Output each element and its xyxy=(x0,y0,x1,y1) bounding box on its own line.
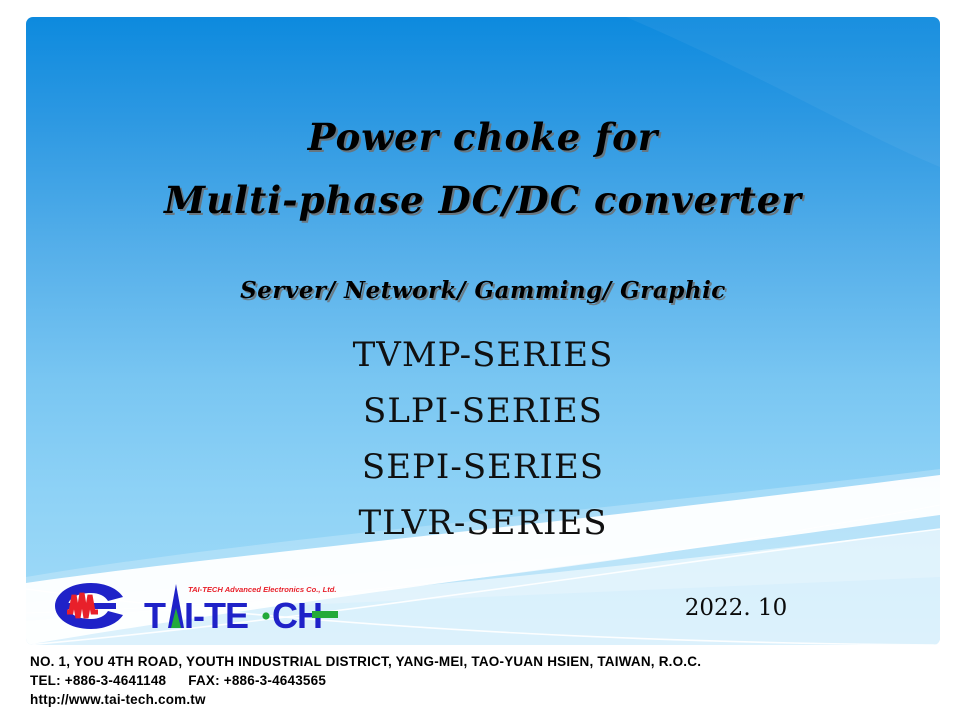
footer-fax: FAX: +886-3-4643565 xyxy=(188,673,326,688)
list-item: TVMP-SERIES xyxy=(26,327,940,383)
footer-address: NO. 1, YOU 4TH ROAD, YOUTH INDUSTRIAL DI… xyxy=(30,652,940,671)
list-item: SLPI-SERIES xyxy=(26,383,940,439)
page-subtitle: Server/ Network/ Gamming/ Graphic xyxy=(26,277,940,304)
page-title-line-2: Multi-phase DC/DC converter xyxy=(26,178,940,222)
date-label: 2022. 10 xyxy=(646,595,826,621)
title-slide-panel: Power choke for Multi-phase DC/DC conver… xyxy=(26,17,940,645)
logo-bar-accent xyxy=(312,611,338,618)
series-list: TVMP-SERIES SLPI-SERIES SEPI-SERIES TLVR… xyxy=(26,327,940,551)
logo-tagline: TAI-TECH Advanced Electronics Co., Ltd. xyxy=(188,585,337,594)
slide-canvas: Power choke for Multi-phase DC/DC conver… xyxy=(0,0,960,720)
footer-tel: TEL: +886-3-4641148 xyxy=(30,673,166,688)
footer-phone-row: TEL: +886-3-4641148FAX: +886-3-4643565 xyxy=(30,671,940,690)
footer-website[interactable]: http://www.tai-tech.com.tw xyxy=(30,690,940,709)
tai-tech-emblem-icon xyxy=(52,580,130,632)
list-item: TLVR-SERIES xyxy=(26,495,940,551)
logo-dot-accent xyxy=(262,612,269,619)
svg-text:I-TE: I-TE xyxy=(184,595,248,634)
list-item: SEPI-SERIES xyxy=(26,439,940,495)
tai-tech-wordmark: TAI-TECH Advanced Electronics Co., Ltd. … xyxy=(144,578,354,634)
footer-contact: NO. 1, YOU 4TH ROAD, YOUTH INDUSTRIAL DI… xyxy=(30,652,940,709)
svg-text:T: T xyxy=(144,595,166,634)
company-logo: TAI-TECH Advanced Electronics Co., Ltd. … xyxy=(52,578,352,636)
page-title-line-1: Power choke for xyxy=(26,115,940,159)
